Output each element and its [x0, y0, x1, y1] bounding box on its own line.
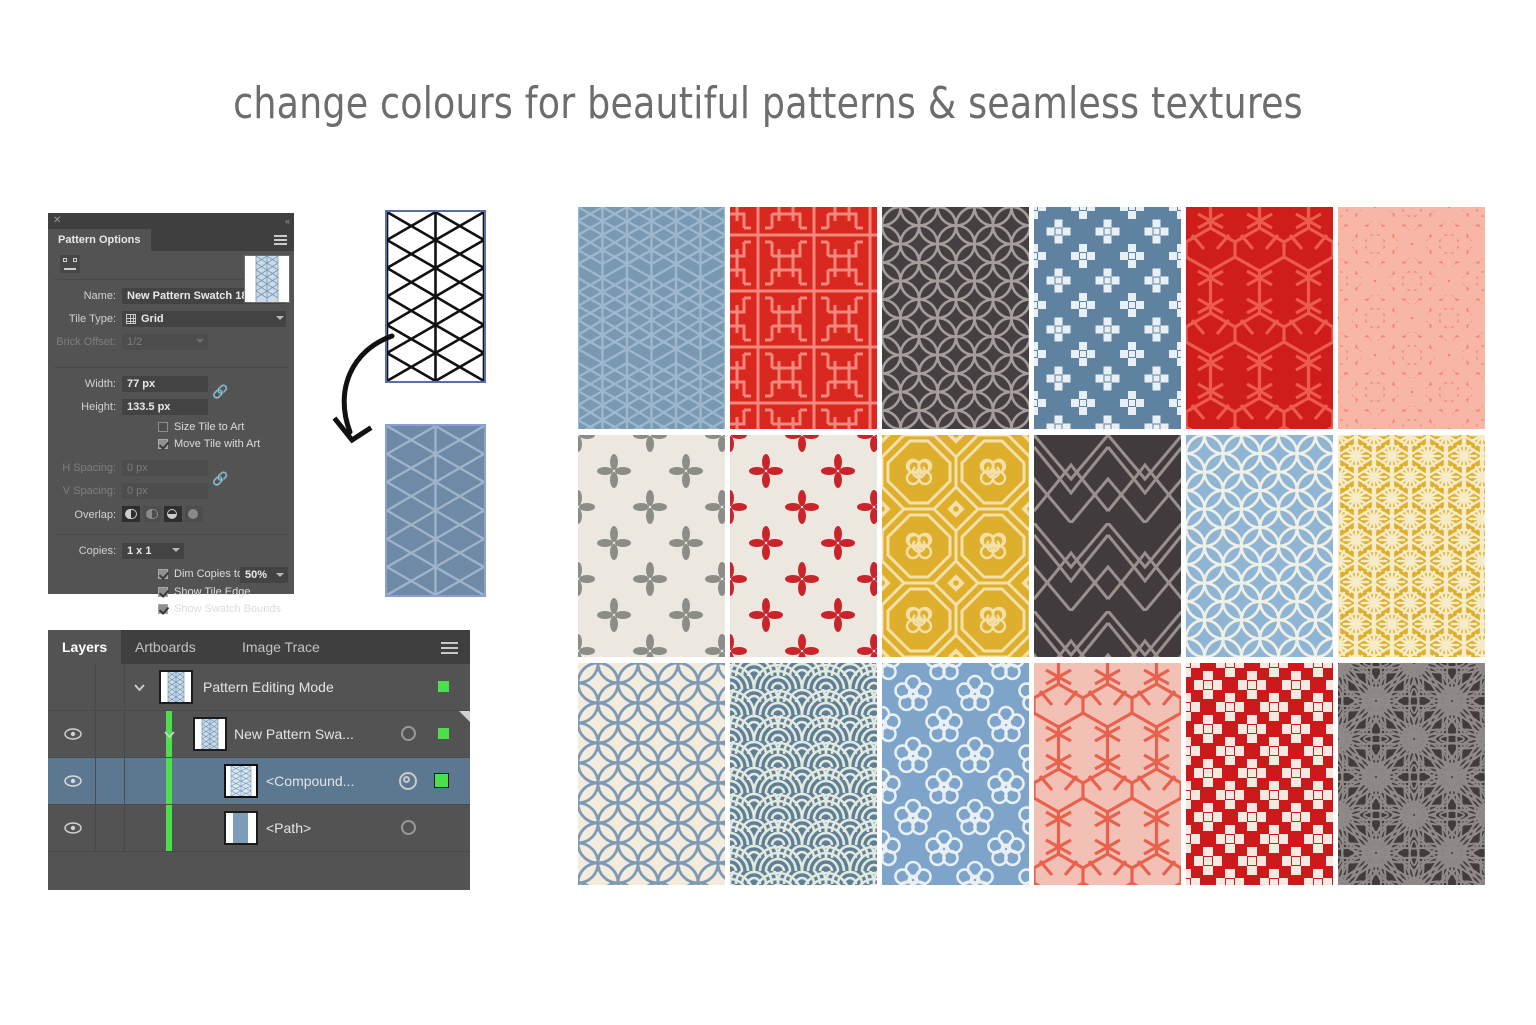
show-swatch-bounds-row: Show Swatch Bounds: [48, 602, 294, 619]
column-divider: [95, 711, 96, 757]
h-spacing-label: H Spacing:: [48, 458, 116, 479]
layer-name: <Path>: [266, 805, 311, 851]
v-spacing-label: V Spacing:: [48, 481, 116, 502]
panel-menu-icon[interactable]: [441, 642, 458, 653]
layers-panel: Layers Artboards Image Trace Pattern Edi…: [48, 630, 470, 890]
show-tile-edge-row: Show Tile Edge: [48, 585, 294, 602]
swatch-seigaiha-blue[interactable]: [730, 663, 877, 885]
asanoha-blue-art: [578, 207, 725, 429]
swatch-octagon-clover-gold[interactable]: [882, 435, 1029, 657]
divider-2: [54, 367, 288, 368]
link-broken-icon[interactable]: 🔗: [212, 384, 224, 400]
pixel-diamond-red-art: [1186, 663, 1333, 885]
grid-icon: [126, 314, 136, 324]
diamond-dots-blue-art: [1034, 207, 1181, 429]
shippo-cream-art: [578, 663, 725, 885]
layer-indent-bar: [166, 758, 172, 804]
move-tile-with-art-label: Move Tile with Art: [174, 438, 260, 450]
swatch-diamond-lattice-dark[interactable]: [1034, 435, 1181, 657]
swatch-shippo-cream[interactable]: [578, 663, 725, 885]
swatch-kagome-coral[interactable]: [1034, 663, 1181, 885]
column-divider: [124, 758, 125, 804]
plum-blossom-blue-art: [882, 663, 1029, 885]
swatch-pixel-diamond-red[interactable]: [1186, 663, 1333, 885]
copies-label: Copies:: [52, 541, 116, 562]
chevron-down-icon-copies[interactable]: [172, 548, 180, 552]
v-spacing-row: V Spacing: 0 px 🔗: [48, 481, 294, 502]
layers-panel-footer: [48, 864, 470, 890]
show-swatch-bounds-checkbox[interactable]: Show Swatch Bounds: [158, 602, 281, 617]
layer-color-indicator[interactable]: [434, 773, 449, 788]
h-spacing-row: H Spacing: 0 px: [48, 458, 294, 479]
panel-menu-icon[interactable]: [274, 235, 287, 245]
target-indicator-active[interactable]: [399, 772, 417, 790]
size-tile-to-art-label: Size Tile to Art: [174, 421, 244, 433]
tab-artboards[interactable]: Artboards: [121, 630, 210, 664]
dahlia-charcoal-art: [1338, 663, 1485, 885]
chevron-down-icon-brick: [196, 339, 204, 343]
name-label: Name:: [52, 286, 116, 307]
width-input[interactable]: 77 px: [122, 376, 208, 392]
sayagata-red-art: [730, 207, 877, 429]
tab-image-trace[interactable]: Image Trace: [228, 630, 334, 664]
layer-row-pattern-editing-mode[interactable]: Pattern Editing Mode: [48, 664, 470, 711]
layer-thumbnail[interactable]: [224, 764, 258, 798]
layers-tab-bar: Layers Artboards Image Trace: [48, 630, 470, 664]
eye-icon[interactable]: [60, 711, 86, 757]
column-divider: [124, 711, 125, 757]
column-divider: [95, 664, 96, 710]
pattern-tile-tool-icon[interactable]: [60, 255, 80, 273]
dim-copies-row: Dim Copies to: 50%: [48, 566, 294, 585]
layer-row-new-pattern-swatch[interactable]: New Pattern Swa...: [48, 711, 470, 758]
height-label: Height:: [52, 397, 116, 418]
swatch-petals-grey[interactable]: [578, 435, 725, 657]
tab-layers[interactable]: Layers: [48, 630, 121, 664]
layer-indent-bar: [166, 805, 172, 851]
checkbox-box: [158, 422, 168, 432]
tab-pattern-options[interactable]: Pattern Options: [48, 229, 151, 251]
collapse-icon[interactable]: «: [285, 214, 289, 228]
tile-type-row: Tile Type: Grid: [48, 309, 294, 330]
shippo-charcoal-art: [882, 207, 1029, 429]
asanoha-tile-blue[interactable]: [385, 424, 486, 597]
layer-thumbnail[interactable]: [159, 670, 193, 704]
hexagon-star-gold-art: [1338, 435, 1485, 657]
size-tile-to-art-row: Size Tile to Art: [48, 420, 294, 437]
swatch-kagome-red[interactable]: [1186, 207, 1333, 429]
copies-row: Copies: 1 x 1: [48, 541, 294, 562]
pattern-swatch-grid: [578, 207, 1488, 897]
swatch-hexagon-star-gold[interactable]: [1338, 435, 1485, 657]
size-tile-to-art-checkbox[interactable]: Size Tile to Art: [158, 420, 244, 435]
tile-type-select[interactable]: Grid: [122, 311, 286, 327]
asanoha-art-blue: [387, 426, 484, 595]
column-divider: [124, 805, 125, 851]
overlap-left-in-front-icon[interactable]: [122, 506, 140, 522]
show-tile-edge-checkbox[interactable]: Show Tile Edge: [158, 585, 250, 600]
overlap-top-in-front-icon[interactable]: [164, 506, 182, 522]
kagome-red-art: [1186, 207, 1333, 429]
show-tile-edge-label: Show Tile Edge: [174, 586, 250, 598]
eye-icon[interactable]: [60, 758, 86, 804]
move-tile-with-art-row: Move Tile with Art: [48, 437, 294, 454]
panel-tab-bar: Pattern Options: [48, 229, 294, 251]
layer-name: <Compound...: [266, 758, 354, 804]
link-broken-icon-spacing[interactable]: 🔗: [212, 471, 224, 487]
column-divider: [95, 758, 96, 804]
show-swatch-bounds-label: Show Swatch Bounds: [174, 603, 281, 615]
divider-3: [54, 534, 288, 535]
dim-copies-label: Dim Copies to:: [174, 568, 246, 580]
v-spacing-input: 0 px: [122, 483, 208, 499]
layer-name: Pattern Editing Mode: [203, 664, 334, 710]
swatch-petals-red[interactable]: [730, 435, 877, 657]
swatch-shippo-charcoal[interactable]: [882, 207, 1029, 429]
shippo-blue-art: [1186, 435, 1333, 657]
panel-title-bar: ✕ «: [48, 213, 294, 229]
width-label: Width:: [52, 374, 116, 395]
layer-name: New Pattern Swa...: [234, 711, 354, 757]
target-indicator[interactable]: [401, 820, 416, 835]
brick-offset-row: Brick Offset: 1/2: [48, 332, 294, 353]
height-row: Height: 133.5 px: [48, 397, 294, 418]
eye-icon[interactable]: [60, 805, 86, 851]
kagome-coral-art: [1034, 663, 1181, 885]
chrysanthemum-coral-art: [1338, 207, 1485, 429]
layer-thumbnail[interactable]: [193, 717, 227, 751]
chevron-down-icon-layer[interactable]: [132, 664, 146, 710]
selection-corner-marker: [459, 711, 470, 722]
page-title: change colours for beautiful patterns & …: [61, 78, 1474, 129]
tile-type-label: Tile Type:: [52, 309, 116, 330]
layer-color-indicator[interactable]: [438, 681, 449, 692]
swatch-diamond-dots-blue[interactable]: [1034, 207, 1181, 429]
overlap-right-in-front-icon[interactable]: [143, 506, 161, 522]
swatch-plum-blossom-blue[interactable]: [882, 663, 1029, 885]
checkbox-box: [158, 569, 168, 579]
swatch-asanoha-blue[interactable]: [578, 207, 725, 429]
diamond-lattice-dark-art: [1034, 435, 1181, 657]
swatch-sayagata-red[interactable]: [730, 207, 877, 429]
move-tile-with-art-checkbox[interactable]: Move Tile with Art: [158, 437, 260, 452]
layer-row-path[interactable]: <Path>: [48, 805, 470, 852]
chevron-down-icon-dim[interactable]: [276, 573, 284, 577]
overlap-row: Overlap:: [48, 506, 294, 524]
overlap-bottom-in-front-icon[interactable]: [185, 506, 203, 522]
brick-offset-label: Brick Offset:: [48, 332, 116, 353]
swatch-preview-thumbnail: [244, 255, 290, 303]
checkbox-box: [158, 439, 168, 449]
column-divider: [95, 805, 96, 851]
close-icon[interactable]: ✕: [53, 214, 61, 228]
octagon-clover-gold-art: [882, 435, 1029, 657]
dim-copies-checkbox[interactable]: Dim Copies to:: [158, 567, 246, 582]
checkbox-box: [158, 587, 168, 597]
layer-row-compound-path[interactable]: <Compound...: [48, 758, 470, 805]
column-divider: [124, 664, 125, 710]
checkbox-box: [158, 604, 168, 614]
chevron-down-icon-sublayer[interactable]: [162, 711, 176, 757]
h-spacing-input: 0 px: [122, 460, 208, 476]
width-row: Width: 77 px: [48, 374, 294, 395]
swatch-preview-art: [245, 256, 289, 302]
height-input[interactable]: 133.5 px: [122, 399, 208, 415]
swatch-shippo-blue[interactable]: [1186, 435, 1333, 657]
chevron-down-icon[interactable]: [276, 316, 284, 320]
petals-red-art: [730, 435, 877, 657]
seigaiha-blue-art: [730, 663, 877, 885]
layer-color-indicator[interactable]: [438, 728, 449, 739]
overlap-label: Overlap:: [52, 506, 116, 524]
petals-grey-art: [578, 435, 725, 657]
pattern-options-panel: ✕ « Pattern Options Name: New Pattern Sw…: [48, 213, 294, 594]
layer-thumbnail[interactable]: [224, 811, 258, 845]
target-indicator[interactable]: [401, 726, 416, 741]
swatch-dahlia-charcoal[interactable]: [1338, 663, 1485, 885]
swatch-chrysanthemum-coral[interactable]: [1338, 207, 1485, 429]
